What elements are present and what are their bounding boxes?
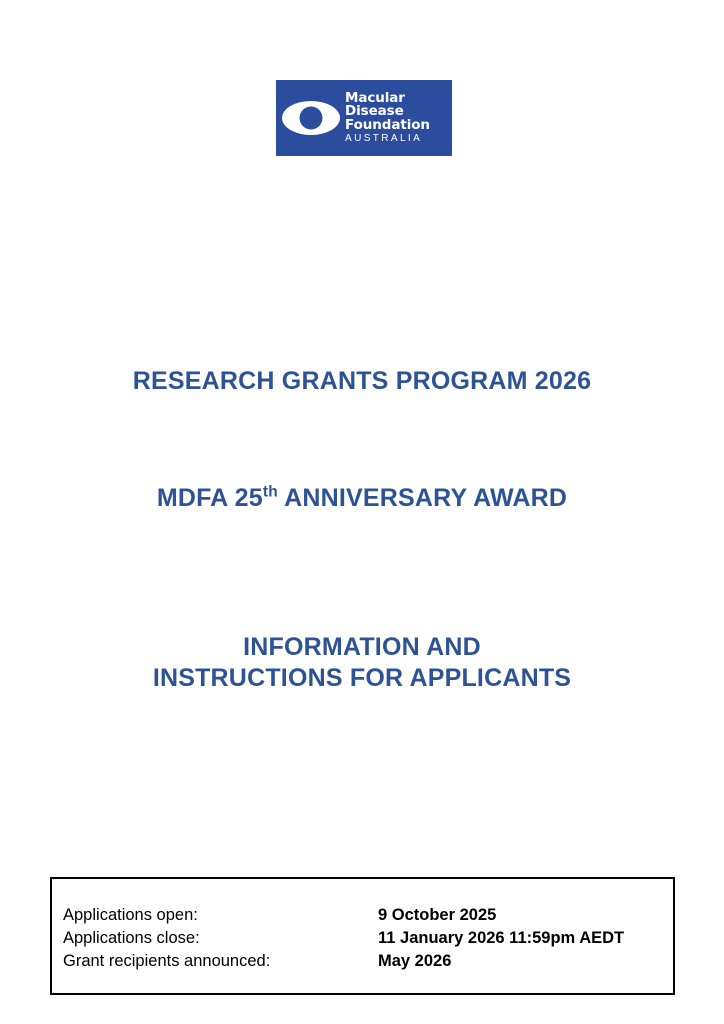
document-page: Macular Disease Foundation AUSTRALIA RES… [0,0,724,1024]
date-label-recipients-announced: Grant recipients announced: [63,950,378,973]
info-title-line-2: INSTRUCTIONS FOR APPLICANTS [0,663,724,694]
logo-line-foundation: Foundation [345,119,430,133]
date-value-recipients-announced: May 2026 [378,950,624,973]
info-title-line-1: INFORMATION AND [0,632,724,663]
logo-line-australia: AUSTRALIA [345,134,430,144]
eye-icon [280,93,342,143]
logo-wordmark: Macular Disease Foundation AUSTRALIA [345,92,430,145]
key-dates-table: Applications open: 9 October 2025 Applic… [63,904,624,972]
award-title-suffix: ANNIVERSARY AWARD [278,484,567,512]
award-title-superscript: th [263,484,278,501]
award-title-prefix: MDFA 25 [157,484,263,512]
key-dates-box: Applications open: 9 October 2025 Applic… [50,877,675,995]
page-title-information: INFORMATION AND INSTRUCTIONS FOR APPLICA… [0,632,724,693]
date-label-applications-open: Applications open: [63,904,378,927]
mdfa-logo: Macular Disease Foundation AUSTRALIA [276,80,452,156]
date-value-applications-close: 11 January 2026 11:59pm AEDT [378,927,624,950]
table-row: Applications open: 9 October 2025 [63,904,624,927]
table-row: Grant recipients announced: May 2026 [63,950,624,973]
page-title-program: RESEARCH GRANTS PROGRAM 2026 [0,366,724,397]
page-title-award: MDFA 25th ANNIVERSARY AWARD [0,483,724,514]
date-label-applications-close: Applications close: [63,927,378,950]
table-row: Applications close: 11 January 2026 11:5… [63,927,624,950]
date-value-applications-open: 9 October 2025 [378,904,624,927]
